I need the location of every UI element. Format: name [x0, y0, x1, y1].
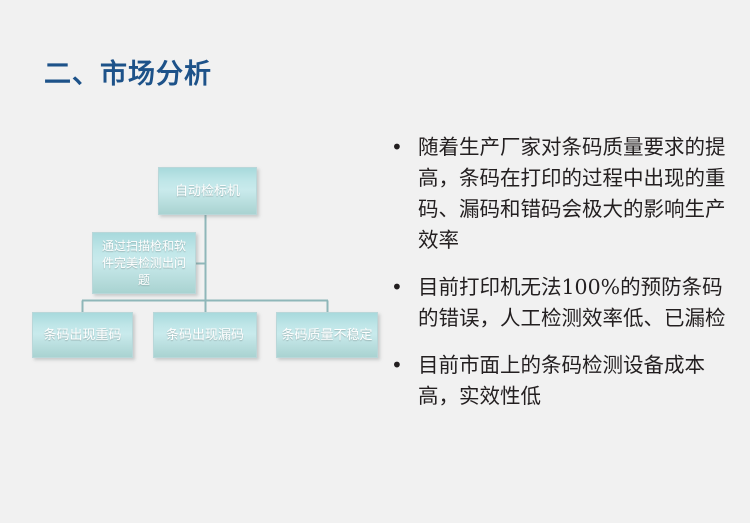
- bullet-marker-icon: •: [386, 132, 418, 162]
- bullet-text: 目前市面上的条码检测设备成本高，实效性低: [418, 350, 726, 412]
- bullet-text: 目前打印机无法100%的预防条码的错误，人工检测效率低、已漏检: [418, 272, 726, 334]
- slide-canvas: 二、市场分析 自动检标机 通过扫描枪和软件完美检测出问题 条码出现重码 条码出现…: [0, 0, 750, 523]
- bullet-item: • 随着生产厂家对条码质量要求的提高，条码在打印的过程中出现的重码、漏码和错码会…: [386, 132, 726, 256]
- org-node-assistant[interactable]: 通过扫描枪和软件完美检测出问题: [92, 232, 196, 294]
- org-node-child-missing-code[interactable]: 条码出现漏码: [153, 312, 257, 358]
- bullet-item: • 目前打印机无法100%的预防条码的错误，人工检测效率低、已漏检: [386, 272, 726, 334]
- bullet-item: • 目前市面上的条码检测设备成本高，实效性低: [386, 350, 726, 412]
- org-node-root[interactable]: 自动检标机: [158, 167, 257, 215]
- bullet-marker-icon: •: [386, 350, 418, 380]
- org-node-child-unstable-quality[interactable]: 条码质量不稳定: [276, 312, 378, 358]
- bullet-list: • 随着生产厂家对条码质量要求的提高，条码在打印的过程中出现的重码、漏码和错码会…: [386, 132, 726, 428]
- org-chart-diagram: 自动检标机 通过扫描枪和软件完美检测出问题 条码出现重码 条码出现漏码 条码质量…: [0, 0, 390, 523]
- org-node-assistant-label: 通过扫描枪和软件完美检测出问题: [97, 238, 191, 289]
- org-node-child-2-label: 条码质量不稳定: [281, 326, 372, 345]
- org-node-root-label: 自动检标机: [175, 182, 240, 201]
- org-node-child-0-label: 条码出现重码: [43, 326, 121, 345]
- bullet-marker-icon: •: [386, 272, 418, 302]
- org-node-child-duplicate-code[interactable]: 条码出现重码: [32, 312, 133, 358]
- bullet-text: 随着生产厂家对条码质量要求的提高，条码在打印的过程中出现的重码、漏码和错码会极大…: [418, 132, 726, 256]
- org-node-child-1-label: 条码出现漏码: [166, 326, 244, 345]
